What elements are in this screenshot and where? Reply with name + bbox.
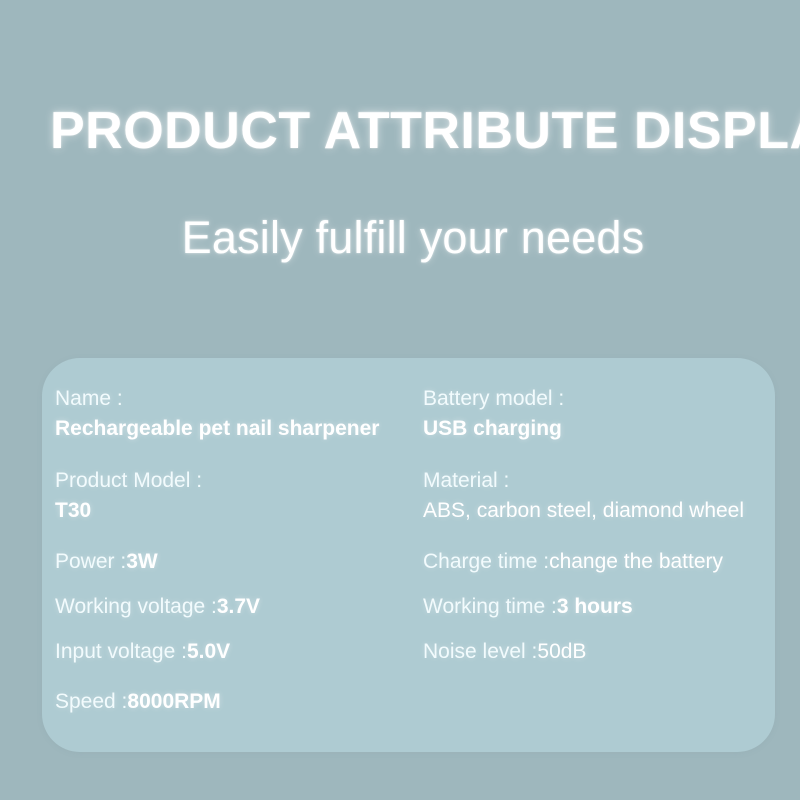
spec-value-product-model: T30: [55, 496, 425, 526]
spec-value-noise-level: 50dB: [537, 640, 586, 663]
spec-label-charge-time: Charge time :: [423, 550, 549, 573]
spec-value-material: ABS, carbon steel, diamond wheel: [423, 496, 773, 526]
spec-row-working-voltage: Working voltage :3.7V: [55, 592, 425, 622]
spec-label-input-voltage: Input voltage :: [55, 640, 187, 663]
spec-row-battery-model: Battery model : USB charging: [423, 384, 773, 444]
spec-label-material: Material :: [423, 466, 773, 496]
spec-columns: Name : Rechargeable pet nail sharpener P…: [42, 358, 775, 752]
spec-value-working-time: 3 hours: [557, 595, 633, 618]
spec-value-input-voltage: 5.0V: [187, 640, 230, 663]
spec-row-material: Material : ABS, carbon steel, diamond wh…: [423, 466, 773, 526]
spec-value-battery-model: USB charging: [423, 414, 773, 444]
spec-label-speed: Speed :: [55, 690, 127, 713]
spec-row-noise-level: Noise level :50dB: [423, 637, 773, 667]
spec-row-name: Name : Rechargeable pet nail sharpener: [55, 384, 425, 444]
spec-label-name: Name :: [55, 384, 425, 414]
spec-row-working-time: Working time :3 hours: [423, 592, 773, 622]
spec-row-charge-time: Charge time :change the battery: [423, 547, 773, 577]
spec-label-power: Power :: [55, 550, 126, 573]
product-attribute-page: PRODUCT ATTRIBUTE DISPLAY Easily fulfill…: [0, 0, 800, 800]
spec-label-battery-model: Battery model :: [423, 384, 773, 414]
spec-value-speed: 8000RPM: [127, 690, 220, 713]
spec-value-power: 3W: [126, 550, 158, 573]
spec-value-working-voltage: 3.7V: [217, 595, 260, 618]
spec-card: Name : Rechargeable pet nail sharpener P…: [42, 358, 775, 752]
spec-label-working-voltage: Working voltage :: [55, 595, 217, 618]
spec-value-name: Rechargeable pet nail sharpener: [55, 414, 425, 444]
spec-value-charge-time: change the battery: [549, 550, 723, 573]
spec-label-working-time: Working time :: [423, 595, 557, 618]
spec-row-input-voltage: Input voltage :5.0V: [55, 637, 425, 667]
spec-column-right: Battery model : USB charging Material : …: [423, 384, 773, 667]
spec-row-speed: Speed :8000RPM: [55, 687, 425, 717]
page-subtitle: Easily fulfill your needs: [50, 211, 776, 265]
spec-row-power: Power :3W: [55, 547, 425, 577]
spec-column-left: Name : Rechargeable pet nail sharpener P…: [55, 384, 425, 717]
spec-row-product-model: Product Model : T30: [55, 466, 425, 526]
spec-label-noise-level: Noise level :: [423, 640, 537, 663]
page-title: PRODUCT ATTRIBUTE DISPLAY: [50, 101, 776, 161]
spec-label-product-model: Product Model :: [55, 466, 425, 496]
